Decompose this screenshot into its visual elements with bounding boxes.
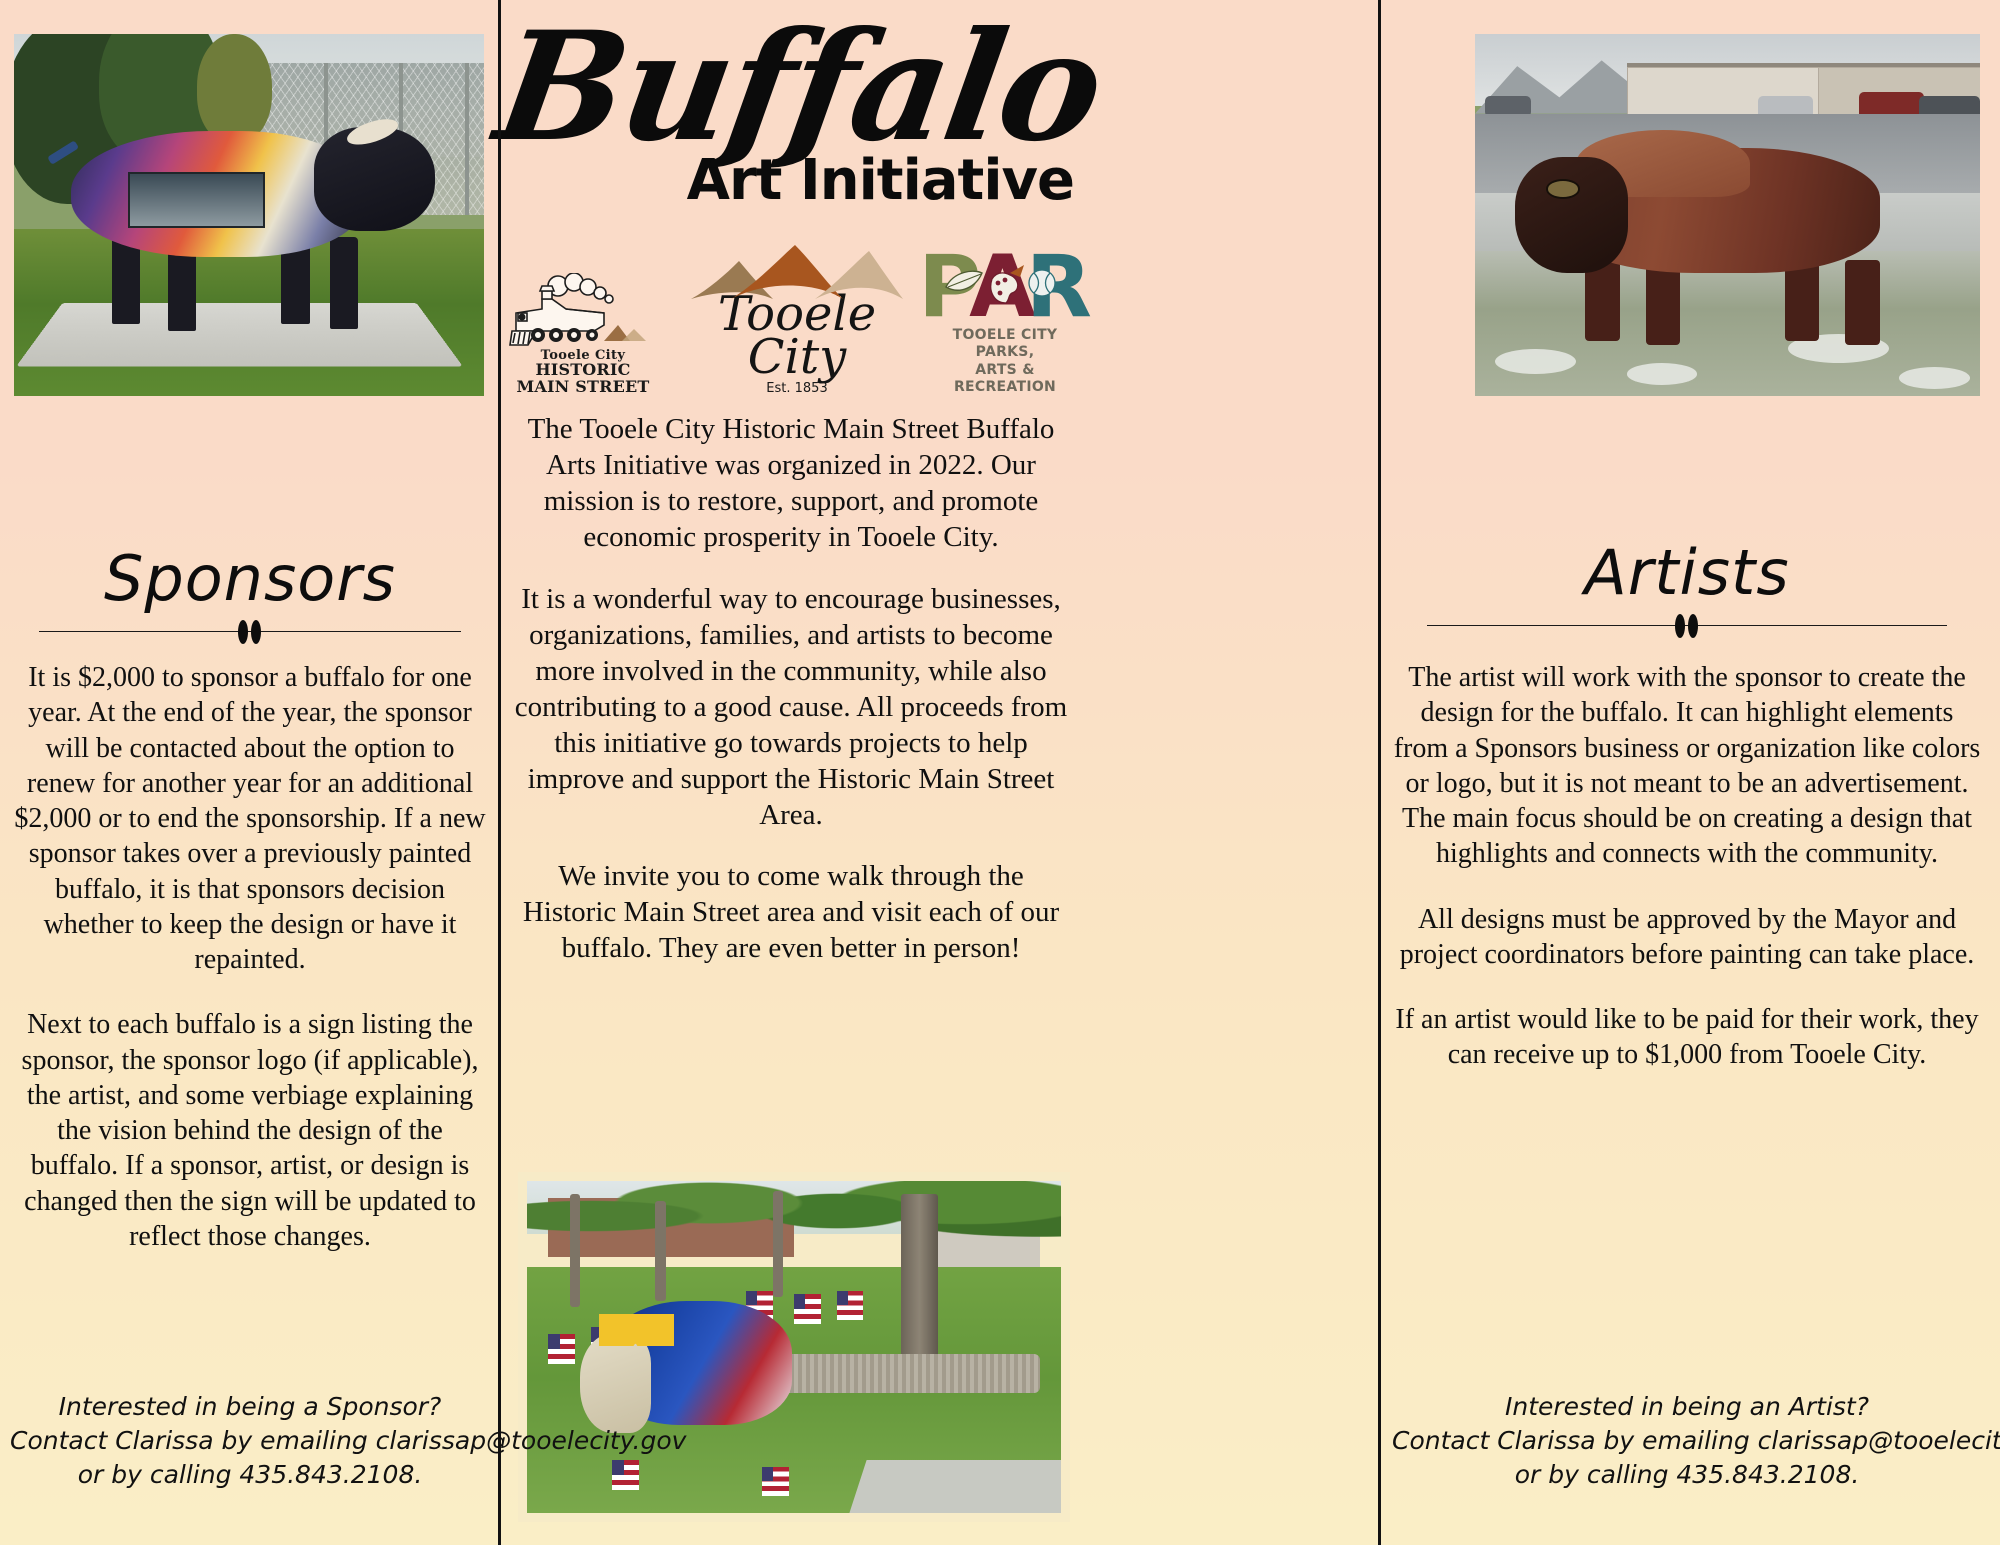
- historic-main-street-logo: Tooele City HISTORIC MAIN STREET: [508, 273, 658, 396]
- par-logo: P A R: [936, 251, 1074, 396]
- photo-brown-buffalo-snow: [1475, 34, 1980, 396]
- sponsors-heading: Sponsors: [10, 548, 490, 610]
- center-paragraph-3: We invite you to come walk through the H…: [512, 859, 1070, 967]
- artists-heading: Artists: [1392, 542, 1982, 604]
- photo-patriotic-buffalo: [518, 1172, 1070, 1522]
- artists-paragraph-2: All designs must be approved by the Mayo…: [1392, 902, 1982, 973]
- center-paragraph-2: It is a wonderful way to encourage busin…: [512, 582, 1070, 834]
- mountains-icon: [687, 241, 907, 303]
- sponsors-paragraph-1: It is $2,000 to sponsor a buffalo for on…: [10, 660, 490, 977]
- artists-body-copy: The artist will work with the sponsor to…: [1392, 660, 1982, 1103]
- sponsors-contact-line3[interactable]: or by calling 435.843.2108.: [10, 1458, 490, 1492]
- artists-contact-line2[interactable]: Contact Clarissa by emailing clarissap@t…: [1392, 1424, 1982, 1458]
- sponsors-divider: [10, 618, 490, 644]
- artists-heading-block: Artists: [1392, 542, 1982, 638]
- steam-train-icon: [508, 273, 658, 349]
- baseball-icon: [1029, 270, 1055, 296]
- photo-rainbow-buffalo: [14, 34, 484, 396]
- logo-row: Tooele City HISTORIC MAIN STREET Tooele …: [508, 278, 1074, 396]
- historic-main-street-logo-line2: HISTORIC MAIN STREET: [508, 362, 658, 396]
- par-letters: P A R: [936, 251, 1074, 325]
- center-body-copy: The Tooele City Historic Main Street Buf…: [512, 412, 1070, 993]
- sponsors-heading-block: Sponsors: [10, 548, 490, 644]
- artists-contact-line1: Interested in being an Artist?: [1392, 1390, 1982, 1424]
- par-logo-sub-line2: ARTS & RECREATION: [936, 362, 1074, 396]
- tooele-city-logo-label: Tooele City: [687, 293, 907, 379]
- buffalo-hoof-icon: [238, 620, 262, 644]
- artists-divider: [1392, 612, 1982, 638]
- sponsors-contact-line2[interactable]: Contact Clarissa by emailing clarissap@t…: [10, 1424, 490, 1458]
- sponsors-paragraph-2: Next to each buffalo is a sign listing t…: [10, 1007, 490, 1254]
- leaf-icon: [946, 271, 982, 290]
- sponsors-contact-block: Interested in being a Sponsor? Contact C…: [10, 1390, 490, 1491]
- artists-paragraph-3: If an artist would like to be paid for t…: [1392, 1002, 1982, 1073]
- tooele-city-logo: Tooele City Est. 1853: [687, 241, 907, 396]
- sponsors-contact-line1: Interested in being a Sponsor?: [10, 1390, 490, 1424]
- tooele-city-logo-est: Est. 1853: [687, 381, 907, 396]
- page-title: Buffalo: [489, 18, 1091, 156]
- center-paragraph-1: The Tooele City Historic Main Street Buf…: [512, 412, 1070, 556]
- sponsors-body-copy: It is $2,000 to sponsor a buffalo for on…: [10, 660, 490, 1284]
- buffalo-hoof-icon: [1675, 614, 1699, 638]
- par-emblems: [936, 257, 1074, 331]
- artists-contact-block: Interested in being an Artist? Contact C…: [1392, 1390, 1982, 1491]
- masthead: Buffalo Art Initiative: [500, 0, 1080, 213]
- artists-paragraph-1: The artist will work with the sponsor to…: [1392, 660, 1982, 872]
- fold-line-right: [1378, 0, 1381, 1545]
- artists-contact-line3[interactable]: or by calling 435.843.2108.: [1392, 1458, 1982, 1492]
- fold-line-left: [498, 0, 501, 1545]
- brochure-page: Buffalo Art Initiative: [0, 0, 2000, 1545]
- palette-icon: [991, 265, 1024, 303]
